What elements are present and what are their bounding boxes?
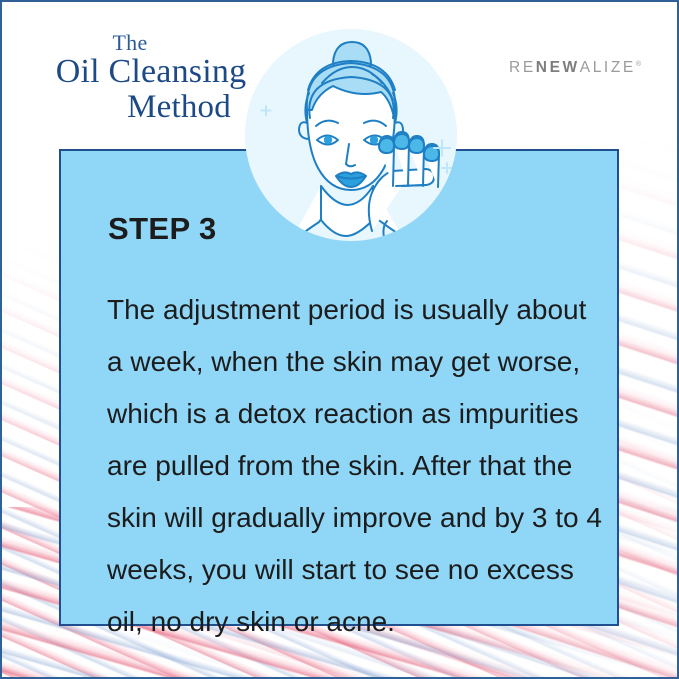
logo-line-the: The xyxy=(4,32,256,54)
page-title: STEP 3 xyxy=(108,211,217,247)
brand-logo-oil-cleansing-method: The Oil Cleansing Method xyxy=(46,32,256,124)
poster-root: The Oil Cleansing Method RENEWALIZE® STE… xyxy=(0,0,679,679)
brand-prefix: RE xyxy=(509,59,536,76)
brand-bold: NEW xyxy=(536,59,580,76)
brand-suffix: ALIZE xyxy=(580,59,636,76)
logo-line-method: Method xyxy=(102,91,256,124)
woman-applying-oil-icon xyxy=(244,28,458,242)
step-description: The adjustment period is usually about a… xyxy=(107,284,607,648)
logo-line-oil-cleansing: Oil Cleansing xyxy=(46,55,256,89)
registered-trademark-icon: ® xyxy=(636,61,641,68)
brand-wordmark-renewalize: RENEWALIZE® xyxy=(509,59,641,77)
